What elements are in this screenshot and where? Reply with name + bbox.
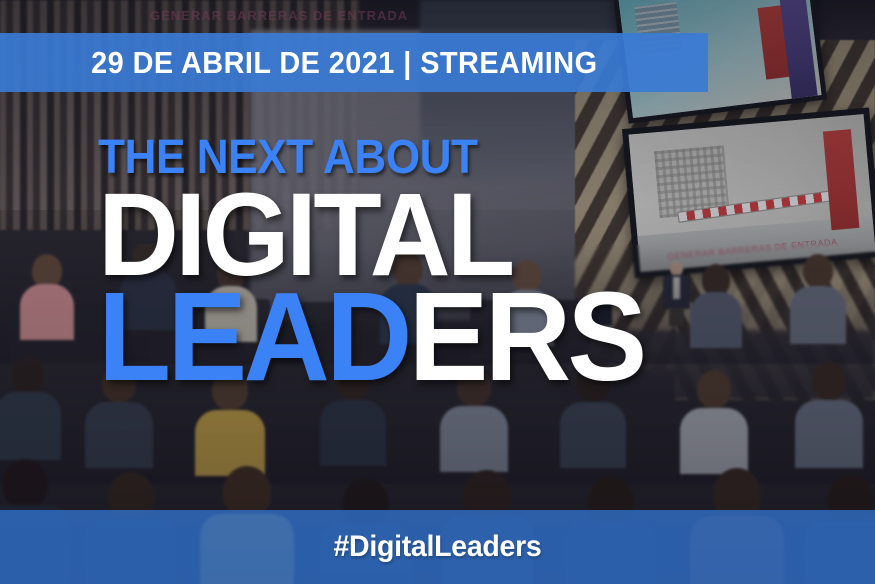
headline-block: THE NEXT ABOUT DIGITAL LEADERS [98,136,672,393]
event-promo-banner: GENERAR BARRERAS DE ENTRADA GENERAR BARR… [0,0,875,584]
hashtag-bar: #DigitalLeaders [0,510,875,584]
date-streaming-bar: 29 DE ABRIL DE 2021 | STREAMING [0,33,708,92]
hashtag-label: #DigitalLeaders [334,530,542,564]
headline-line-leaders: LEADERS [98,282,643,393]
headline-leaders-white: ERS [409,266,644,407]
date-streaming-label: 29 DE ABRIL DE 2021 | STREAMING [0,45,597,81]
headline-leaders-blue: LEAD [98,266,409,407]
